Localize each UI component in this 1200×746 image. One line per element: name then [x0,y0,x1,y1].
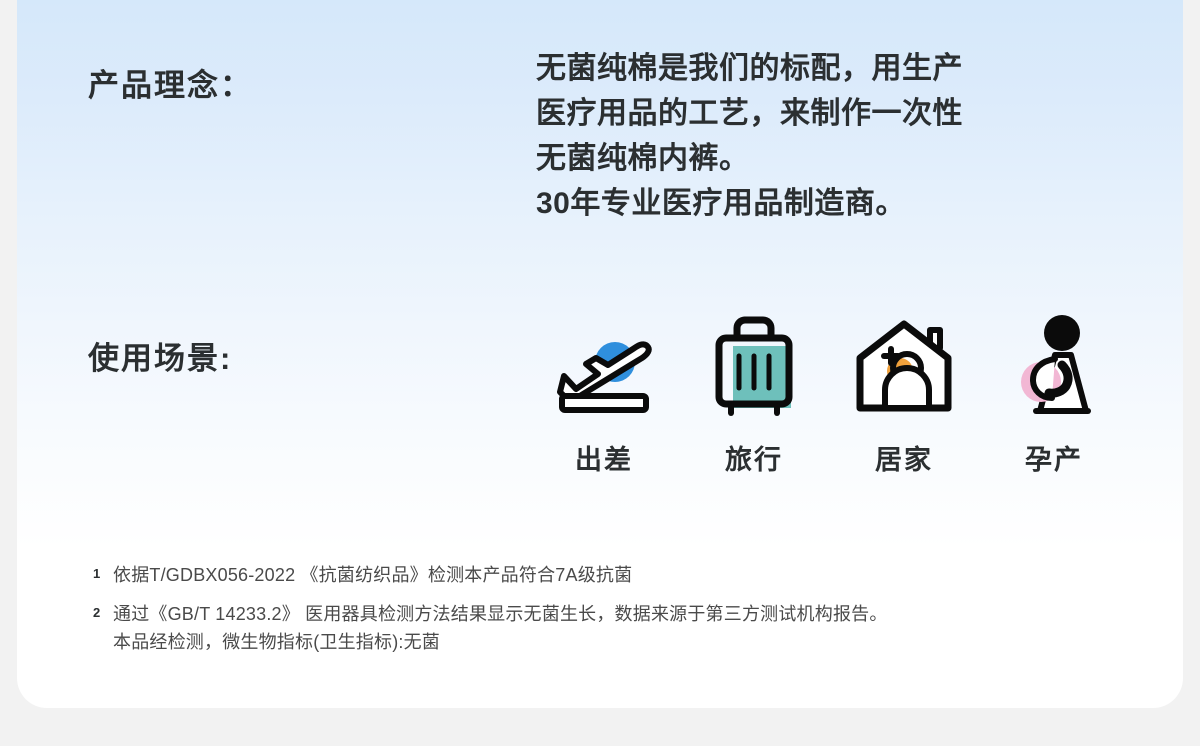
scene-icon-wrapper [1010,316,1098,416]
scene-icon-wrapper [552,316,656,416]
house-person-icon [852,316,956,416]
scene-label: 旅行 [725,438,783,477]
footnote-line: 通过《GB/T 14233.2》 医用器具检测方法结果显示无菌生长，数据来源于第… [113,600,888,628]
scene-item-travel: 旅行 [679,316,829,477]
airplane-takeoff-icon [552,318,656,414]
footnote-marker: 2 [93,600,113,626]
product-concept-label: 产品理念： [88,60,253,105]
usage-scene-list: 出差 [529,316,1129,477]
footnote-text: 依据T/GDBX056-2022 《抗菌纺织品》检测本产品符合7A级抗菌 [113,561,632,589]
concept-line: 无菌纯棉内裤。 [536,136,1116,181]
scene-item-pregnancy: 孕产 [979,316,1129,477]
concept-line: 30年专业医疗用品制造商。 [536,181,1116,226]
scene-icon-wrapper [707,316,801,416]
scene-label: 出差 [575,438,633,477]
scene-item-home: 居家 [829,316,979,477]
pregnant-woman-icon [1010,313,1098,419]
scene-label: 居家 [875,438,933,477]
product-concept-text: 无菌纯棉是我们的标配，用生产 医疗用品的工艺，来制作一次性 无菌纯棉内裤。 30… [536,46,1116,226]
scene-item-business-trip: 出差 [529,316,679,477]
card-content: 产品理念： 无菌纯棉是我们的标配，用生产 医疗用品的工艺，来制作一次性 无菌纯棉… [17,0,1183,708]
suitcase-icon [707,314,801,418]
usage-scenes-label: 使用场景: [88,333,232,378]
scene-label: 孕产 [1025,438,1083,477]
footnote-item: 1 依据T/GDBX056-2022 《抗菌纺织品》检测本产品符合7A级抗菌 [93,561,1153,589]
footnote-item: 2 通过《GB/T 14233.2》 医用器具检测方法结果显示无菌生长，数据来源… [93,600,1153,656]
concept-line: 无菌纯棉是我们的标配，用生产 [536,46,1116,91]
product-info-card: 产品理念： 无菌纯棉是我们的标配，用生产 医疗用品的工艺，来制作一次性 无菌纯棉… [17,0,1183,708]
footnote-line: 依据T/GDBX056-2022 《抗菌纺织品》检测本产品符合7A级抗菌 [113,561,632,589]
scene-icon-wrapper [852,316,956,416]
footnote-text: 通过《GB/T 14233.2》 医用器具检测方法结果显示无菌生长，数据来源于第… [113,600,888,656]
footnotes-list: 1 依据T/GDBX056-2022 《抗菌纺织品》检测本产品符合7A级抗菌 2… [93,561,1153,667]
footnote-marker: 1 [93,561,113,587]
concept-line: 医疗用品的工艺，来制作一次性 [536,91,1116,136]
footnote-line: 本品经检测，微生物指标(卫生指标):无菌 [113,628,888,656]
